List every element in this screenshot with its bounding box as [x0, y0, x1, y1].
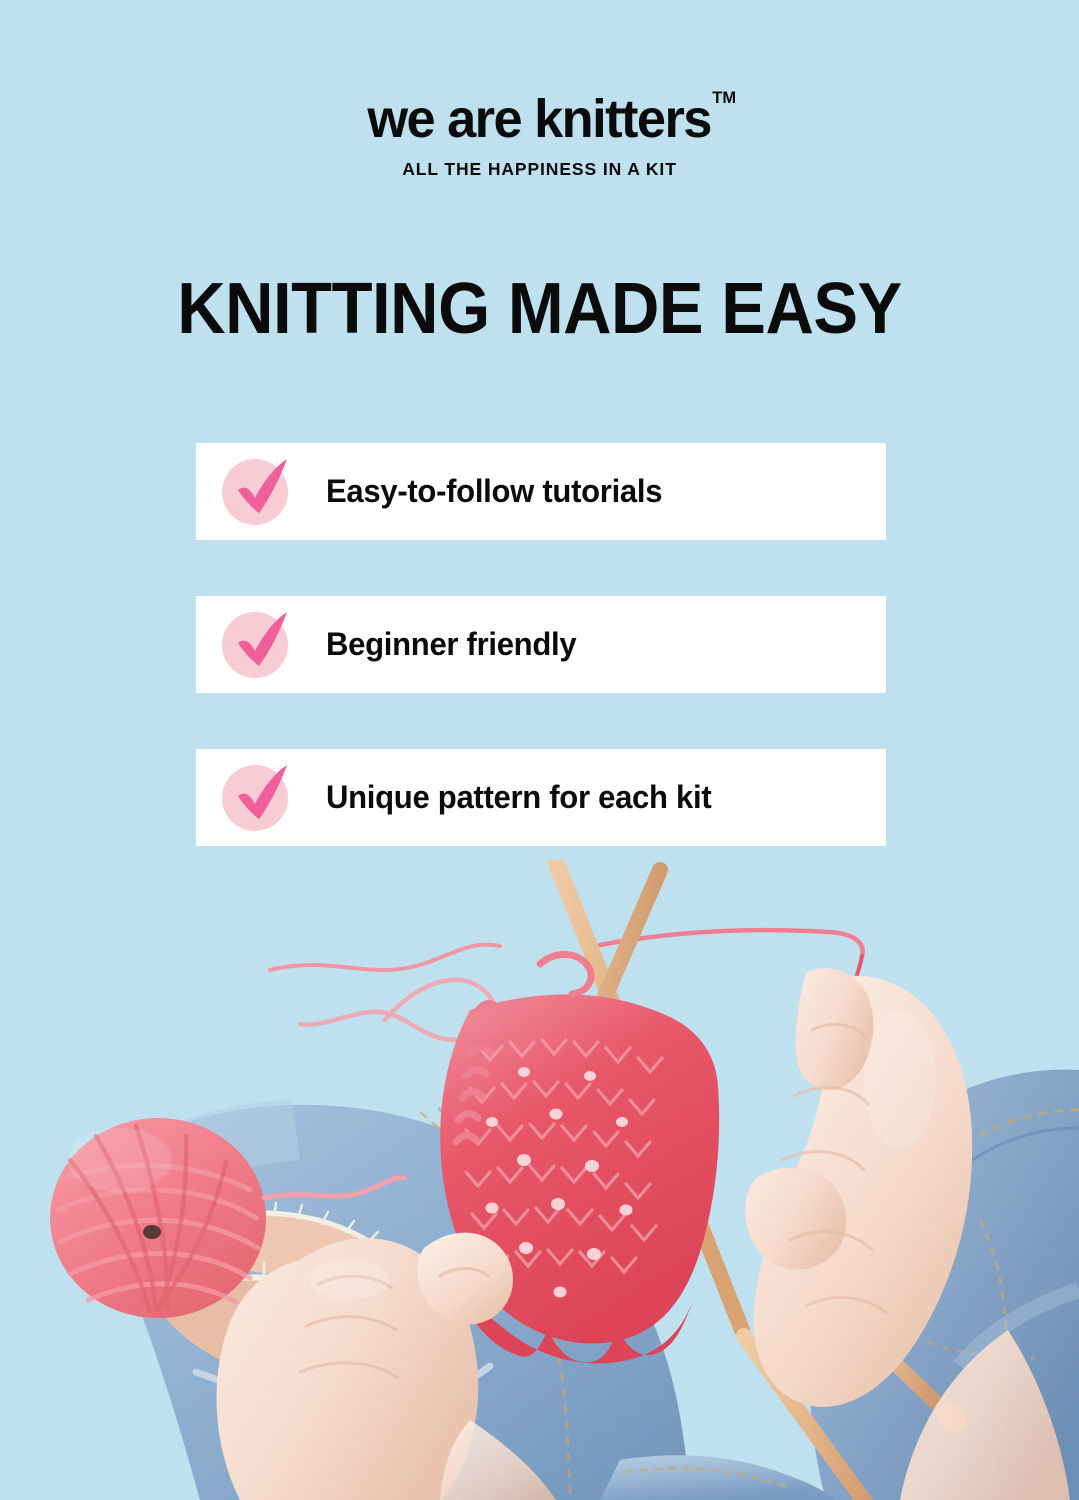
feature-card-beginner: Beginner friendly	[196, 596, 886, 693]
trademark-symbol: TM	[713, 89, 737, 106]
brand-block: we are knitters TM ALL THE HAPPINESS IN …	[0, 92, 1079, 180]
check-icon	[222, 459, 288, 525]
check-icon	[222, 765, 288, 831]
hero-photo	[0, 860, 1079, 1500]
brand-wordmark: we are knitters TM	[368, 92, 712, 146]
brand-tagline: ALL THE HAPPINESS IN A KIT	[0, 159, 1079, 180]
brand-wordmark-text: we are knitters	[368, 89, 712, 149]
feature-list: Easy-to-follow tutorials Beginner friend…	[196, 443, 886, 846]
page-title: KNITTING MADE EASY	[38, 268, 1041, 350]
feature-label: Beginner friendly	[326, 626, 576, 663]
feature-card-pattern: Unique pattern for each kit	[196, 749, 886, 846]
poster-canvas: we are knitters TM ALL THE HAPPINESS IN …	[0, 0, 1079, 1500]
feature-card-tutorials: Easy-to-follow tutorials	[196, 443, 886, 540]
check-icon	[222, 612, 288, 678]
feature-label: Easy-to-follow tutorials	[326, 473, 662, 510]
feature-label: Unique pattern for each kit	[326, 779, 711, 816]
